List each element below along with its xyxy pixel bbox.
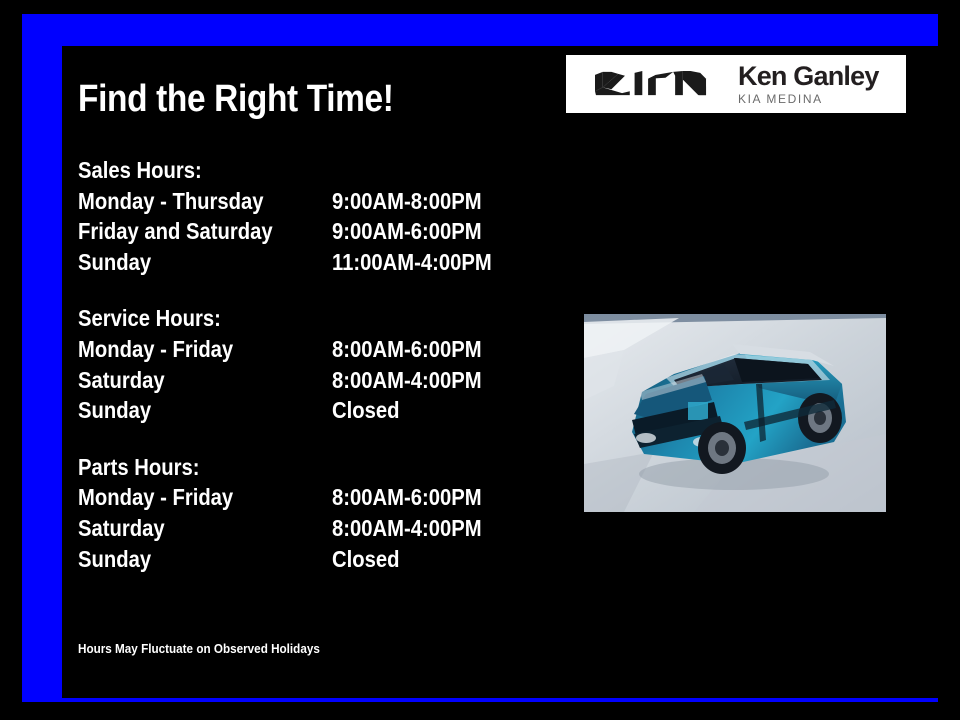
vehicle-photo	[584, 314, 886, 512]
hours-section-heading: Service Hours:	[78, 303, 492, 334]
hours-section: Parts Hours:Monday - Friday8:00AM-6:00PM…	[78, 452, 548, 574]
hours-row: SundayClosed	[78, 395, 548, 426]
hours-row: Sunday11:00AM-4:00PM	[78, 247, 548, 278]
hours-section: Service Hours:Monday - Friday8:00AM-6:00…	[78, 303, 548, 425]
hours-row: SundayClosed	[78, 544, 548, 575]
hours-row: Monday - Friday8:00AM-6:00PM	[78, 334, 548, 365]
hours-row-days: Saturday	[78, 513, 302, 544]
dealer-logo-text: Ken Ganley KIA MEDINA	[738, 63, 879, 105]
hours-row-days: Friday and Saturday	[78, 216, 302, 247]
dealership-hours-slide: Find the Right Time! Sales Hours:Monday …	[0, 0, 960, 720]
page-title: Find the Right Time!	[78, 78, 394, 121]
footer-disclaimer: Hours May Fluctuate on Observed Holidays	[78, 641, 320, 656]
hours-row-time: 9:00AM-8:00PM	[332, 186, 482, 217]
hours-row: Saturday8:00AM-4:00PM	[78, 365, 548, 396]
hours-section-heading: Parts Hours:	[78, 452, 492, 483]
hours-row-days: Monday - Friday	[78, 482, 302, 513]
hours-list: Sales Hours:Monday - Thursday9:00AM-8:00…	[78, 155, 548, 574]
hours-row-time: Closed	[332, 395, 399, 426]
hours-row: Monday - Thursday9:00AM-8:00PM	[78, 186, 548, 217]
hours-row-time: 11:00AM-4:00PM	[332, 247, 492, 278]
hours-row-time: 8:00AM-4:00PM	[332, 365, 482, 396]
hours-row-days: Saturday	[78, 365, 302, 396]
hours-row-days: Sunday	[78, 544, 302, 575]
hours-row: Monday - Friday8:00AM-6:00PM	[78, 482, 548, 513]
hours-row-days: Sunday	[78, 395, 302, 426]
hours-row-time: 8:00AM-6:00PM	[332, 334, 482, 365]
hours-row-time: Closed	[332, 544, 399, 575]
hours-row: Saturday8:00AM-4:00PM	[78, 513, 548, 544]
hours-section: Sales Hours:Monday - Thursday9:00AM-8:00…	[78, 155, 548, 277]
hours-section-heading: Sales Hours:	[78, 155, 492, 186]
hours-row-time: 8:00AM-4:00PM	[332, 513, 482, 544]
hours-row-days: Monday - Thursday	[78, 186, 302, 217]
dealer-name: Ken Ganley	[738, 63, 879, 90]
dealer-logo: Ken Ganley KIA MEDINA	[566, 55, 906, 113]
kia-logo-mark	[588, 70, 714, 98]
dealer-subtitle: KIA MEDINA	[738, 93, 879, 105]
hours-row-days: Monday - Friday	[78, 334, 302, 365]
hours-row-days: Sunday	[78, 247, 302, 278]
hours-row-time: 8:00AM-6:00PM	[332, 482, 482, 513]
hours-row: Friday and Saturday9:00AM-6:00PM	[78, 216, 548, 247]
hours-row-time: 9:00AM-6:00PM	[332, 216, 482, 247]
